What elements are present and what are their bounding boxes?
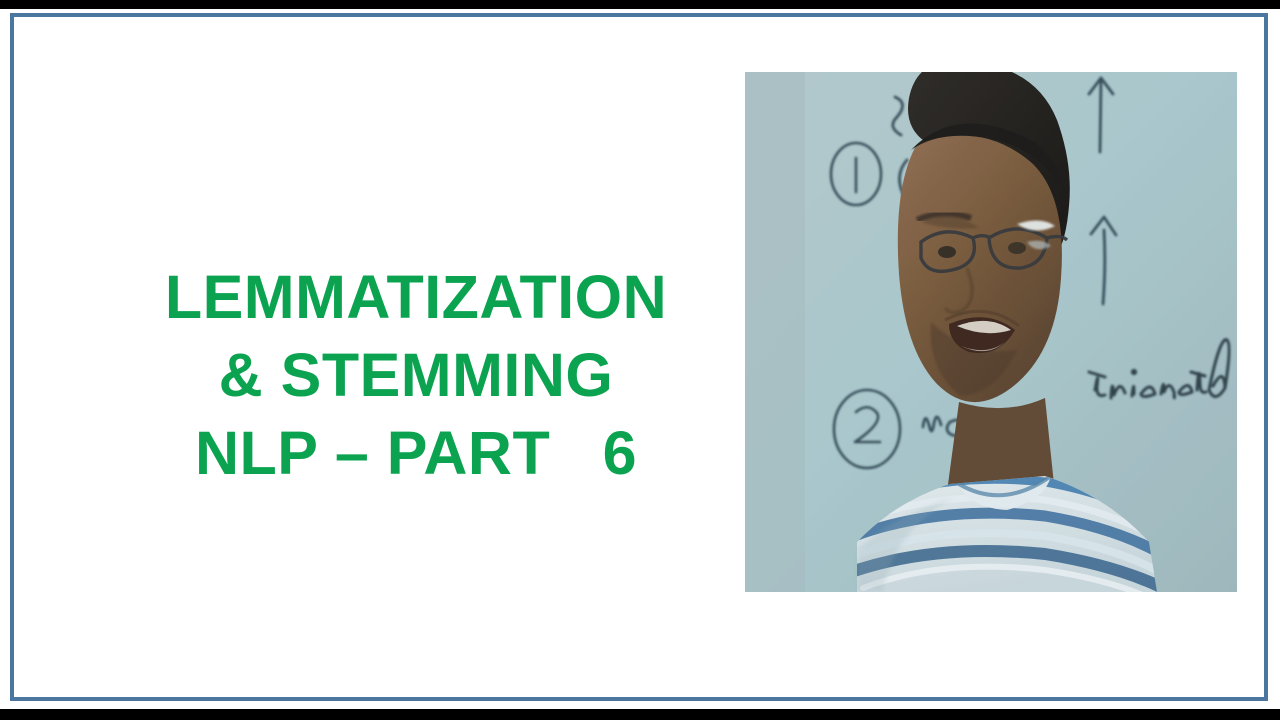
presenter-photo-image [745, 72, 1237, 592]
title-line-lemmatization: LEMMATIZATION [96, 258, 736, 336]
title-line-stemming: & STEMMING [96, 336, 736, 414]
slide-title-block: LEMMATIZATION & STEMMING NLP – PART 6 [96, 258, 736, 492]
presenter-photo [745, 72, 1237, 592]
slide-canvas: LEMMATIZATION & STEMMING NLP – PART 6 [0, 0, 1280, 720]
letterbox-top [0, 0, 1280, 9]
letterbox-bottom [0, 709, 1280, 720]
title-line-nlp-part: NLP – PART 6 [96, 414, 736, 492]
